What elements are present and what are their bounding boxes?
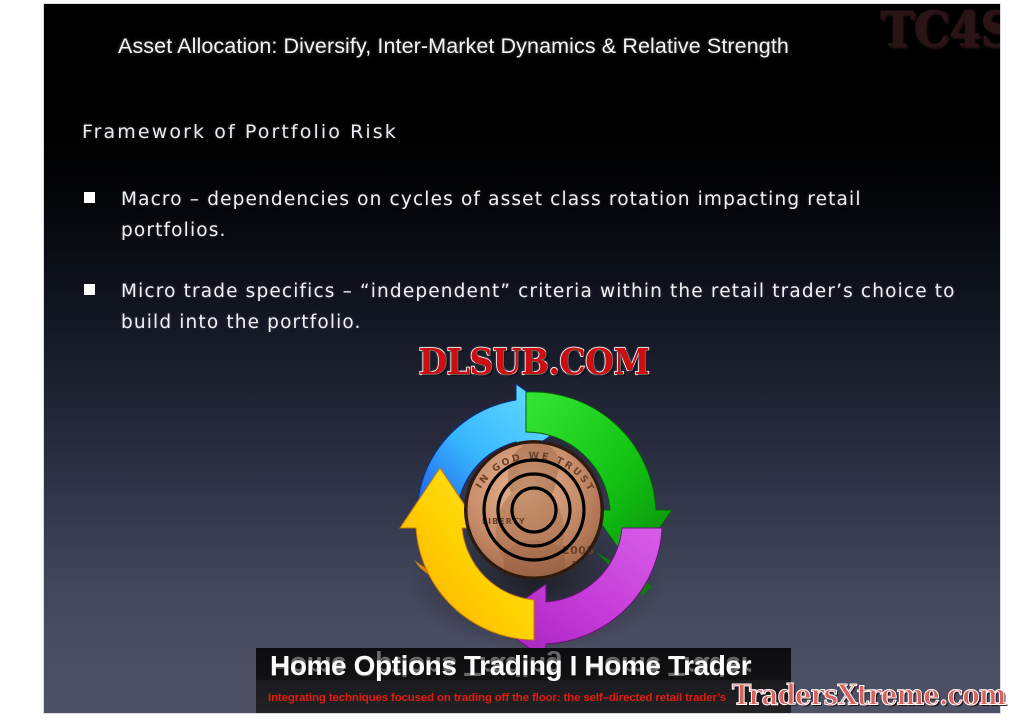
- bullet-item: Macro – dependencies on cycles of asset …: [82, 184, 970, 246]
- bullet-item: Micro trade specifics – “independent” cr…: [82, 276, 970, 338]
- site-banner: Home Options Trading I Home Trader Home …: [256, 648, 791, 713]
- slide-screenshot: Asset Allocation: Diversify, Inter-Marke…: [0, 0, 1024, 724]
- slide-title: Asset Allocation: Diversify, Inter-Marke…: [118, 34, 938, 59]
- banner-title: Home Options Trading I Home Trader: [270, 650, 751, 682]
- bullet-text: Macro – dependencies on cycles of asset …: [121, 184, 970, 246]
- asset-rotation-cycle-diagram: IN GOD WE TRUST LIBERTY 2005 D: [374, 382, 694, 652]
- slide-subheading: Framework of Portfolio Risk: [82, 121, 398, 143]
- banner-tagline: Integrating techniques focused on tradin…: [268, 692, 788, 704]
- square-bullet-icon: [84, 284, 95, 295]
- square-bullet-icon: [84, 192, 95, 203]
- dlsub-watermark: DLSUB.COM: [374, 340, 694, 382]
- bullet-text: Micro trade specifics – “independent” cr…: [121, 276, 970, 338]
- tradersxtreme-watermark: TradersXtreme.com: [732, 680, 1006, 712]
- presentation-slide: Asset Allocation: Diversify, Inter-Marke…: [44, 4, 1000, 713]
